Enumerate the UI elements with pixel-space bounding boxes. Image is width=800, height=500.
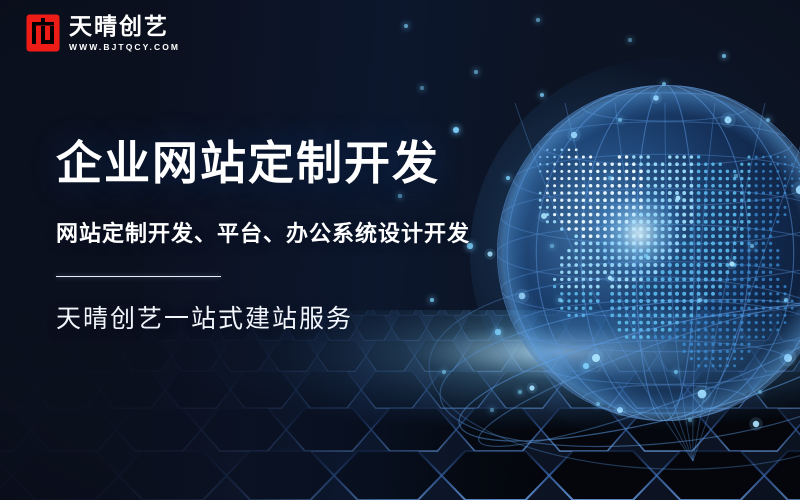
hero-copy: 企业网站定制开发 网站定制开发、平台、办公系统设计开发 天晴创艺一站式建站服务 bbox=[56, 138, 470, 335]
brand-name: 天晴创艺 bbox=[69, 15, 180, 40]
brand-logo[interactable]: 天晴创艺 WWW.BJTQCY.COM bbox=[26, 14, 180, 52]
brand-logo-text: 天晴创艺 WWW.BJTQCY.COM bbox=[69, 15, 180, 51]
brand-website: WWW.BJTQCY.COM bbox=[69, 43, 180, 52]
hero-subline: 网站定制开发、平台、办公系统设计开发 bbox=[56, 190, 470, 248]
promo-banner: 天晴创艺 WWW.BJTQCY.COM 企业网站定制开发 网站定制开发、平台、办… bbox=[0, 0, 800, 500]
tqcy-logo-mark-icon bbox=[26, 14, 60, 52]
hero-tagline: 天晴创艺一站式建站服务 bbox=[56, 277, 470, 335]
hero-headline: 企业网站定制开发 bbox=[56, 138, 470, 190]
